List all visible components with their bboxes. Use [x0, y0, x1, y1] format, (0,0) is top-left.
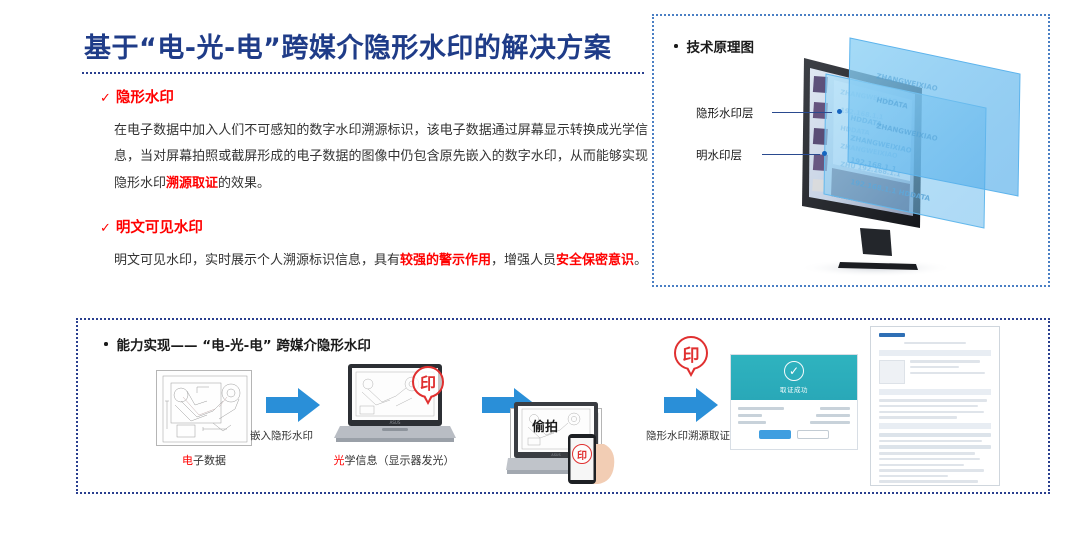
section-invisible-watermark: ✓ 隐形水印 在电子数据中加入人们不可感知的数字水印溯源标识，该电子数据通过屏幕…	[100, 86, 648, 197]
svg-text:ASUS: ASUS	[390, 420, 401, 425]
caption-red-part: 光	[334, 454, 345, 467]
label-visible-layer: 明水印层	[696, 147, 742, 163]
tech-principle-panel: 技术原理图	[652, 14, 1050, 287]
capture-photo-image: ASUS 偷拍 印	[506, 400, 618, 490]
section-heading: ✓ 隐形水印	[100, 86, 648, 107]
title-divider	[82, 72, 644, 74]
step-optical-info-image: ASUS 印	[334, 360, 456, 456]
seal-stamp-icon-center: 印	[674, 336, 708, 370]
leader-dot-visible	[822, 151, 827, 156]
seal-glyph: 印	[572, 444, 592, 464]
section-heading-label: 隐形水印	[116, 86, 174, 107]
check-icon: ✓	[100, 221, 111, 236]
leader-line-visible	[762, 154, 820, 155]
leader-line-invisible	[772, 112, 832, 113]
check-icon: ✓	[100, 91, 111, 106]
section-body: 在电子数据中加入人们不可感知的数字水印溯源标识，该电子数据通过屏幕显示转换成光学…	[114, 118, 648, 197]
seal-pin-tail	[423, 396, 433, 405]
body-text-tail: 。	[634, 253, 647, 268]
verification-title: 取证成功	[780, 384, 808, 394]
blueprint-drawing-1	[157, 371, 252, 446]
arrow-1-icon	[266, 388, 320, 422]
caption-optical-info: 光学信息（显示器发光）	[314, 452, 474, 468]
body-highlight-2: 安全保密意识	[556, 253, 634, 268]
verification-row	[731, 412, 857, 419]
section-body: 明文可见水印，实时展示个人溯源标识信息，具有较强的警示作用，增强人员安全保密意识…	[114, 248, 648, 274]
report-section-band	[879, 350, 991, 356]
photo-label: 偷拍	[532, 416, 558, 435]
monitor-illustration: ZHANGWEIXIAO 192.168.1.1 HDDATA ZHANGWEI…	[654, 16, 1052, 289]
caption-rest: 学信息（显示器发光）	[345, 454, 455, 467]
flow-panel-heading: 能力实现—— “电-光-电” 跨媒介隐形水印	[104, 334, 371, 354]
secondary-button[interactable]	[797, 430, 829, 439]
leader-dot-invisible	[837, 109, 842, 114]
primary-button[interactable]	[759, 430, 791, 439]
caption-electronic-data: 电子数据	[156, 452, 252, 468]
seal-glyph: 印	[674, 336, 708, 370]
report-section-band	[879, 423, 991, 429]
seal-pin-tail	[686, 368, 696, 377]
body-text-mid: ，增强人员	[491, 253, 556, 268]
body-highlight: 溯源取证	[166, 176, 218, 191]
bullet-icon	[104, 342, 108, 346]
report-logo	[879, 333, 905, 337]
check-circle-icon: ✓	[784, 361, 804, 381]
page-title: 基于“电-光-电”跨媒介隐形水印的解决方案	[84, 26, 644, 65]
svg-text:ASUS: ASUS	[551, 453, 561, 457]
step-electronic-data-image	[156, 370, 252, 446]
section-heading: ✓ 明文可见水印	[100, 216, 648, 237]
report-section-band	[879, 389, 991, 395]
section-heading-label: 明文可见水印	[116, 216, 203, 237]
section-visible-watermark: ✓ 明文可见水印 明文可见水印，实时展示个人溯源标识信息，具有较强的警示作用，增…	[100, 216, 648, 274]
arrow-3-icon	[664, 388, 718, 422]
body-highlight: 较强的警示作用	[400, 253, 491, 268]
body-text: 明文可见水印，实时展示个人溯源标识信息，具有	[114, 253, 400, 268]
seal-glyph: 印	[412, 366, 444, 398]
verification-row	[731, 405, 857, 412]
seal-stamp-icon: 印	[412, 366, 444, 398]
label-invisible-layer: 隐形水印层	[696, 105, 754, 121]
seal-stamp-icon-phone: 印	[572, 444, 592, 464]
laptop-phone-icon: ASUS	[506, 400, 618, 486]
arrow-1-label: 嵌入隐形水印	[250, 428, 313, 443]
verification-result-card: ✓ 取证成功	[730, 354, 858, 450]
verification-card-body	[731, 400, 857, 439]
caption-red-part: 电	[182, 454, 193, 467]
flow-panel-heading-label: 能力实现—— “电-光-电” 跨媒介隐形水印	[117, 334, 371, 354]
capability-flow-panel: 能力实现—— “电-光-电” 跨媒介隐形水印	[76, 318, 1050, 494]
arrow-3-label: 隐形水印溯源取证	[646, 428, 730, 443]
slide-canvas: 基于“电-光-电”跨媒介隐形水印的解决方案 ✓ 隐形水印 在电子数据中加入人们不…	[0, 0, 1080, 539]
body-text-tail: 的效果。	[218, 176, 270, 191]
verification-row	[731, 419, 857, 426]
verification-buttons[interactable]	[731, 430, 857, 439]
report-thumb	[879, 360, 905, 384]
forensics-report-document	[870, 326, 1000, 486]
caption-rest: 子数据	[193, 454, 226, 467]
verification-card-header: ✓ 取证成功	[731, 355, 857, 400]
